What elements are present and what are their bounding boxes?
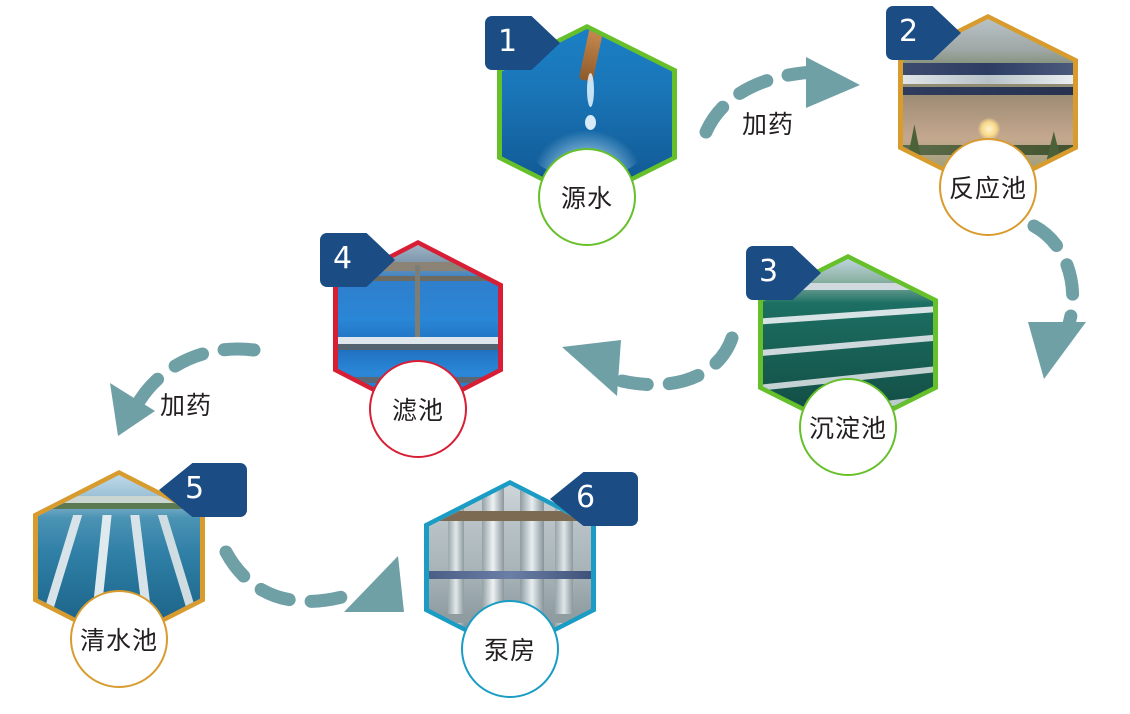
step-label-6[interactable]: 泵房	[461, 600, 559, 698]
step-label-text-6: 泵房	[484, 631, 536, 667]
step-label-text-3: 沉淀池	[809, 409, 887, 445]
process-step-3[interactable]: 3 沉淀池	[758, 254, 938, 434]
arrow-clearwater-to-pumphouse	[226, 552, 404, 612]
step-label-text-5: 清水池	[80, 621, 158, 657]
step-label-5[interactable]: 清水池	[70, 590, 168, 688]
arrow-reaction-to-sedimentation	[1028, 226, 1086, 379]
step-label-3[interactable]: 沉淀池	[799, 378, 897, 476]
process-step-2[interactable]: 2 反应池	[898, 14, 1078, 194]
process-step-6[interactable]: 6 泵房	[424, 480, 596, 655]
arrow-sedimentation-to-filter	[562, 338, 732, 396]
step-label-2[interactable]: 反应池	[939, 138, 1037, 236]
step-label-text-4: 滤池	[392, 391, 444, 427]
flow-label-dosing-2: 加药	[160, 386, 212, 422]
step-label-text-2: 反应池	[949, 169, 1027, 205]
step-label-4[interactable]: 滤池	[369, 360, 467, 458]
flow-label-dosing-1: 加药	[742, 105, 794, 141]
process-step-5[interactable]: 5 清水池	[33, 470, 205, 645]
process-flow-diagram: 1 源水 2 反应池	[0, 0, 1130, 714]
step-label-text-1: 源水	[561, 179, 613, 215]
step-label-1[interactable]: 源水	[538, 148, 636, 246]
process-step-4[interactable]: 4 滤池	[333, 240, 503, 415]
process-step-1[interactable]: 1 源水	[497, 24, 677, 204]
